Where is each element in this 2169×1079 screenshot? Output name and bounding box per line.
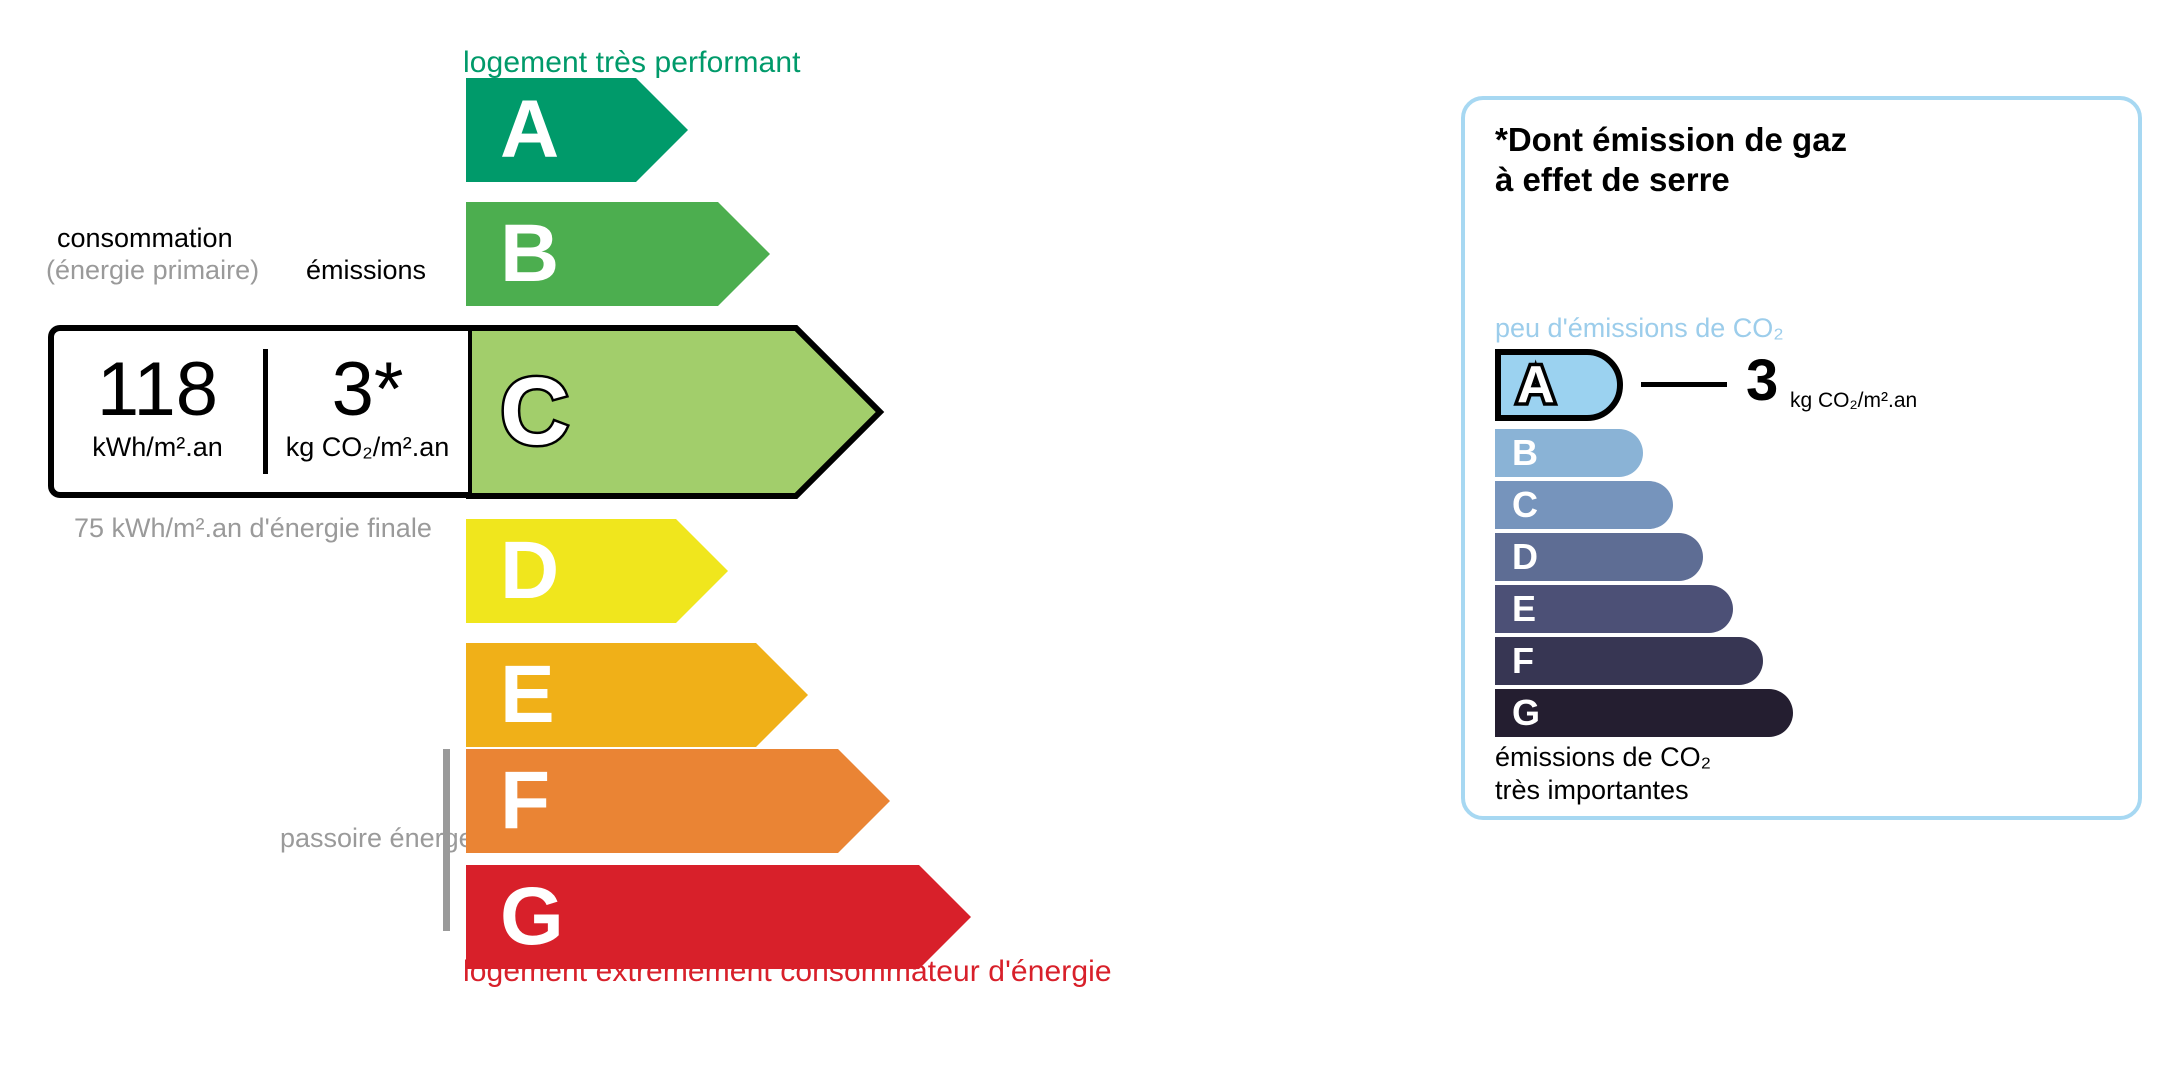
co2-top-caption: peu d'émissions de CO₂ [1495, 313, 1784, 344]
co2-bar-e-letter: E [1512, 591, 1536, 627]
co2-value: 3 [1746, 352, 1778, 410]
consumption-header-label: consommation [57, 223, 233, 254]
co2-bar-g[interactable]: G [1495, 689, 1793, 737]
co2-bar-g-shape: G [1495, 689, 1793, 737]
consumption-subheader-label: (énergie primaire) [46, 255, 259, 286]
energy-bar-d[interactable]: D [466, 519, 728, 623]
consumption-cell: 118 kWh/m².an [54, 331, 261, 492]
co2-bar-b-shape: B [1495, 429, 1643, 477]
emissions-cell: 3* kg CO₂/m².an [267, 331, 468, 492]
co2-bar-c-letter: C [1512, 487, 1538, 523]
co2-bar-f-letter: F [1512, 643, 1534, 679]
consumption-value: 118 [97, 354, 218, 427]
energy-bar-a-letter: A [500, 89, 559, 171]
co2-value-unit: kg CO₂/m².an [1790, 389, 1917, 413]
passoire-energetique-label: passoire énergetique [280, 822, 430, 855]
energy-bar-e-letter: E [500, 654, 555, 736]
energy-bar-e-shape: E [466, 643, 808, 747]
energy-bar-c-shape: C [466, 325, 883, 499]
energy-bar-c[interactable]: C [466, 325, 883, 499]
energy-bar-a[interactable]: A [466, 78, 688, 182]
co2-bar-c[interactable]: C [1495, 481, 1673, 529]
energy-bar-a-shape: A [466, 78, 688, 182]
emissions-header-label: émissions [306, 255, 426, 286]
emissions-unit: kg CO₂/m².an [286, 432, 450, 463]
scale-bottom-caption: logement extrêmement consommateur d'éner… [463, 955, 1112, 989]
co2-leader-line [1641, 382, 1727, 387]
co2-bar-b[interactable]: B [1495, 429, 1643, 477]
energy-bar-g-letter: G [500, 876, 564, 958]
co2-panel-title: *Dont émission de gaz à effet de serre [1495, 120, 1847, 201]
co2-bar-b-letter: B [1512, 435, 1538, 471]
co2-bar-g-letter: G [1512, 695, 1540, 731]
energy-bar-b[interactable]: B [466, 202, 770, 306]
energy-bar-c-letter: C [500, 364, 569, 460]
energy-bar-e[interactable]: E [466, 643, 808, 747]
co2-bottom-caption: émissions de CO₂ très importantes [1495, 741, 1711, 807]
energy-bar-d-letter: D [500, 530, 559, 612]
co2-bar-d-shape: D [1495, 533, 1703, 581]
energy-bar-g[interactable]: G [466, 865, 971, 969]
co2-bar-f-shape: F [1495, 637, 1763, 685]
co2-bar-a-shape: A [1495, 349, 1623, 421]
consumption-unit: kWh/m².an [92, 432, 223, 463]
co2-bar-e-shape: E [1495, 585, 1733, 633]
co2-bar-d[interactable]: D [1495, 533, 1703, 581]
energy-bar-d-shape: D [466, 519, 728, 623]
value-box: 118 kWh/m².an 3* kg CO₂/m².an [48, 325, 468, 498]
co2-bar-d-letter: D [1512, 539, 1538, 575]
emissions-value: 3* [332, 354, 404, 427]
final-energy-note: 75 kWh/m².an d'énergie finale [74, 512, 432, 545]
energy-bar-b-shape: B [466, 202, 770, 306]
energy-performance-scale: logement très performant consommation (é… [0, 0, 1400, 1079]
co2-bar-f[interactable]: F [1495, 637, 1763, 685]
energy-bar-f-letter: F [500, 760, 550, 842]
energy-bar-g-shape: G [466, 865, 971, 969]
scale-top-caption: logement très performant [463, 46, 801, 80]
energy-bar-f-shape: F [466, 749, 890, 853]
co2-bar-c-shape: C [1495, 481, 1673, 529]
co2-emissions-panel: *Dont émission de gaz à effet de serre p… [1461, 96, 2142, 820]
energy-bar-b-letter: B [500, 213, 559, 295]
co2-bar-a[interactable]: A [1495, 349, 1623, 421]
co2-bar-e[interactable]: E [1495, 585, 1733, 633]
co2-bar-a-letter: A [1517, 359, 1555, 411]
energy-bar-f[interactable]: F [466, 749, 890, 853]
